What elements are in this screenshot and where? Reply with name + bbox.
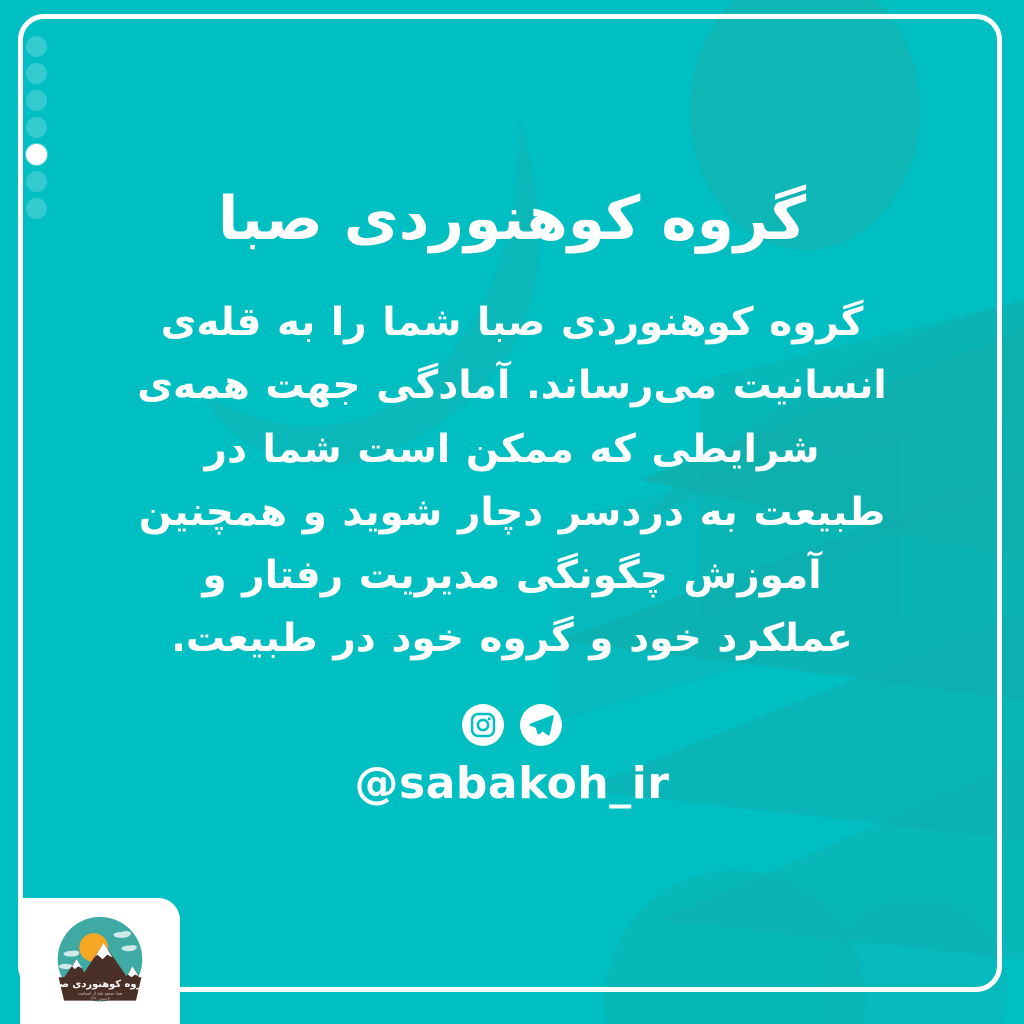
rail-dot-7[interactable] [26, 198, 47, 219]
social-links-row [462, 704, 562, 746]
rail-dot-1[interactable] [26, 36, 47, 57]
rail-dot-4[interactable] [26, 117, 47, 138]
social-handle[interactable]: @sabakoh_ir [355, 758, 670, 809]
logo-subtitle-text: صبا، صعود بلند از انسانیت [78, 990, 123, 995]
rail-dot-3[interactable] [26, 90, 47, 111]
page-indicator-rail[interactable] [26, 36, 47, 219]
saba-mountaineering-logo: گروه کوهنوردی صبا صبا، صعود بلند از انسا… [46, 907, 154, 1015]
telegram-icon[interactable] [520, 704, 562, 746]
poster-content: گروه کوهنوردی صبا گروه کوهنوردی صبا شما … [0, 0, 1024, 1024]
logo-year-text: تاسیس ۱۳۹۰ [90, 996, 110, 1000]
body-paragraph: گروه کوهنوردی صبا شما را به قله‌ی انسانی… [132, 291, 892, 670]
rail-dot-6[interactable] [26, 171, 47, 192]
rail-dot-2[interactable] [26, 63, 47, 84]
logo-banner-text: گروه کوهنوردی صبا [52, 978, 149, 990]
instagram-icon[interactable] [462, 704, 504, 746]
rail-dot-5-active[interactable] [26, 144, 47, 165]
poster-canvas: گروه کوهنوردی صبا گروه کوهنوردی صبا شما … [0, 0, 1024, 1024]
page-title: گروه کوهنوردی صبا [218, 186, 806, 253]
logo-panel[interactable]: گروه کوهنوردی صبا صبا، صعود بلند از انسا… [20, 898, 180, 1024]
